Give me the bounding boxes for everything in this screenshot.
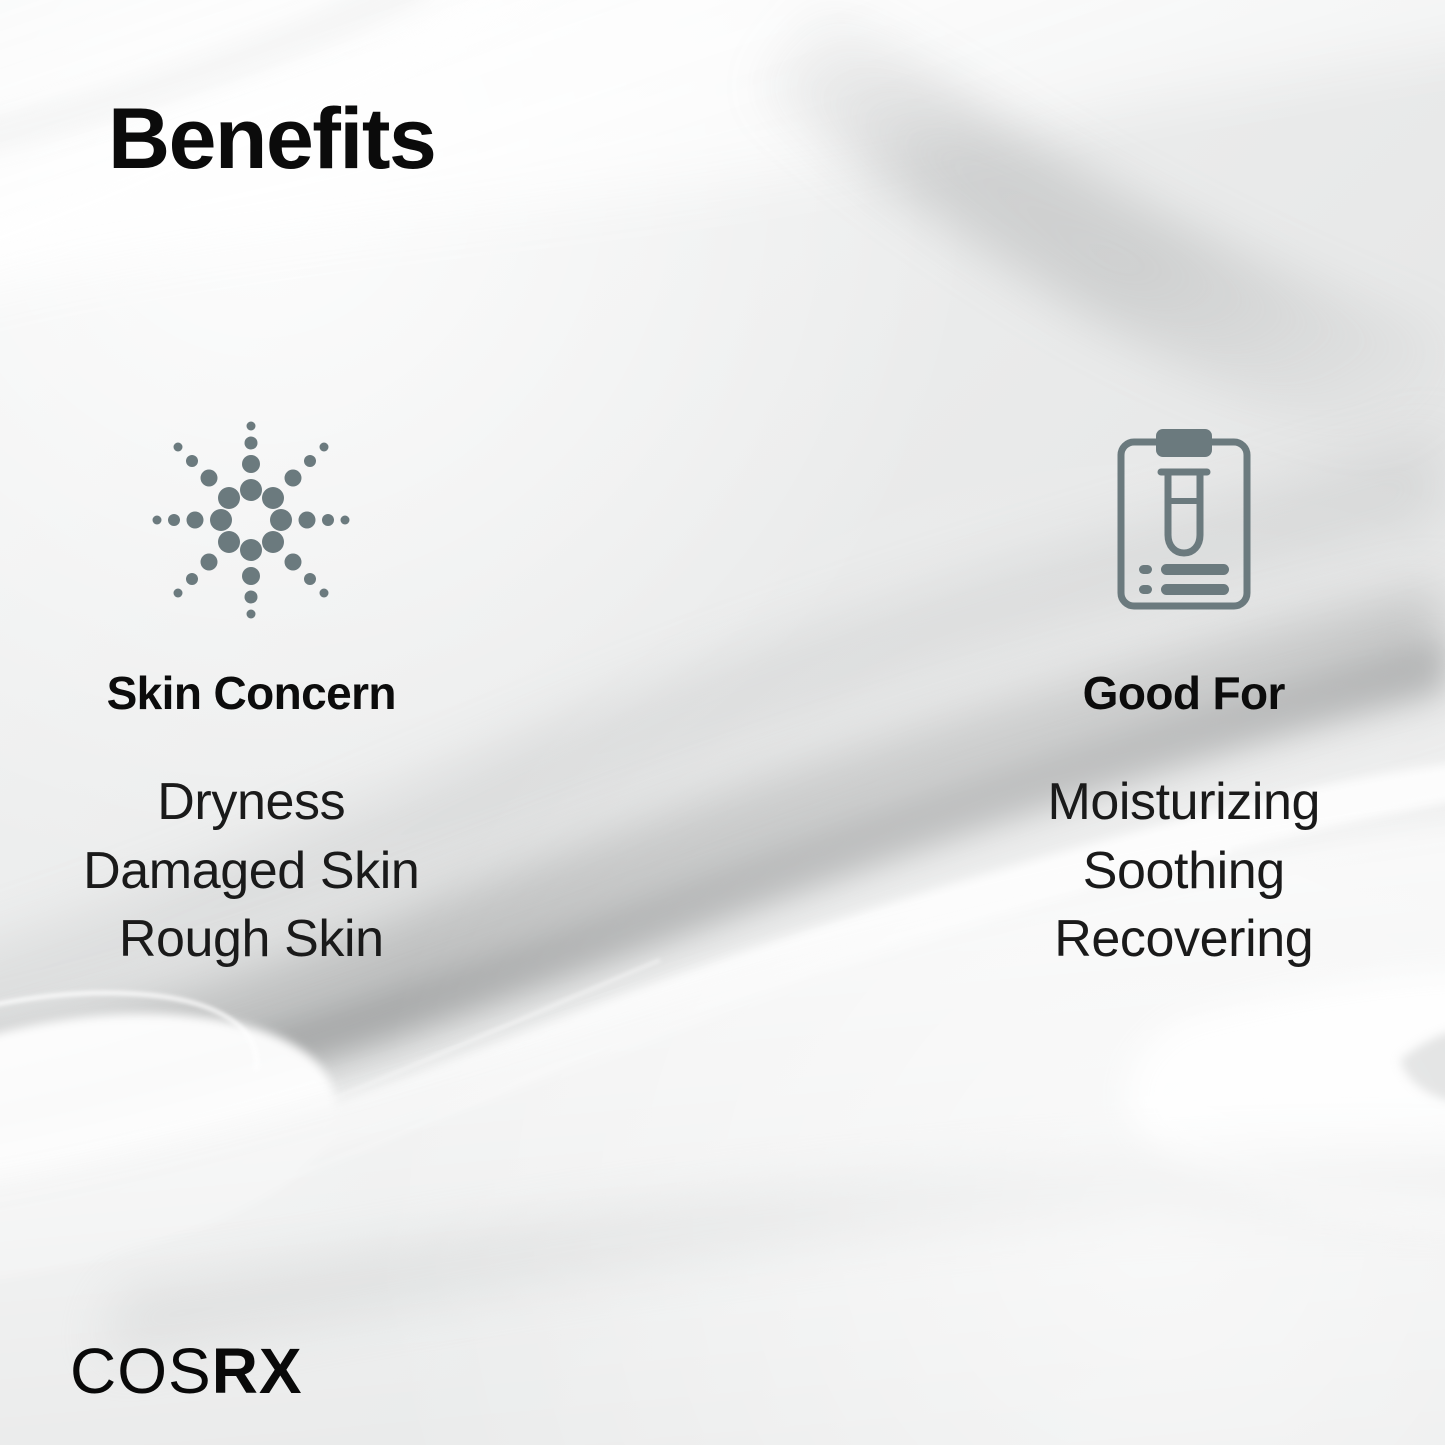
list-item: Dryness [83,768,419,837]
list-item: Damaged Skin [83,837,419,906]
starburst-dots-icon [151,420,351,620]
brand-logo-cosrx: COSRX [70,1339,303,1403]
page-title: Benefits [108,96,435,182]
list-item: Recovering [1047,905,1320,974]
column-heading-skin-concern: Skin Concern [107,670,396,716]
benefits-columns: Skin Concern Dryness Damaged Skin Rough … [0,420,1445,974]
clipboard-test-tube-icon [1111,420,1257,620]
brand-logo-part-rx: RX [212,1335,303,1407]
list-item: Moisturizing [1047,768,1320,837]
list-item: Soothing [1047,837,1320,906]
benefit-column-good-for: Good For Moisturizing Soothing Recoverin… [723,420,1445,974]
list-item: Rough Skin [83,905,419,974]
brand-logo-part-cos: COS [70,1335,212,1407]
benefit-list-skin-concern: Dryness Damaged Skin Rough Skin [83,768,419,974]
benefit-list-good-for: Moisturizing Soothing Recovering [1047,768,1320,974]
column-heading-good-for: Good For [1083,670,1285,716]
benefit-column-skin-concern: Skin Concern Dryness Damaged Skin Rough … [0,420,723,974]
